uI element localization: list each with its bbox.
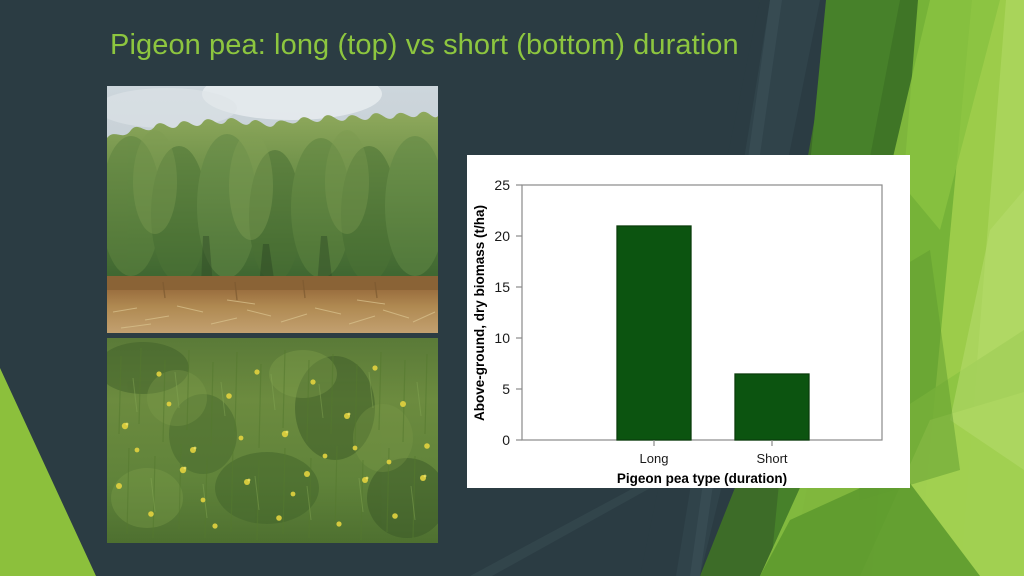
- y-tick-0: 0: [502, 432, 510, 448]
- long-duration-photo-image: [107, 86, 438, 333]
- short-duration-pigeon-pea-photo: [107, 338, 438, 543]
- y-tick-25: 25: [494, 177, 510, 193]
- y-axis-title: Above-ground, dry biomass (t/ha): [472, 205, 487, 421]
- y-tick-15: 15: [494, 279, 510, 295]
- x-axis-title: Pigeon pea type (duration): [617, 471, 787, 486]
- plot-area-frame: [522, 185, 882, 440]
- short-duration-photo-image: [107, 338, 438, 543]
- y-tick-20: 20: [494, 228, 510, 244]
- y-tick-5: 5: [502, 381, 510, 397]
- category-label-long: Long: [640, 451, 669, 466]
- page-title: Pigeon pea: long (top) vs short (bottom)…: [110, 26, 739, 64]
- biomass-bar-chart: 0 5 10 15 20 25 Above-ground, dry biomas…: [467, 155, 910, 488]
- presentation-slide: Pigeon pea: long (top) vs short (bottom)…: [0, 0, 1024, 576]
- category-label-short: Short: [756, 451, 787, 466]
- y-tick-10: 10: [494, 330, 510, 346]
- bar-long: [617, 226, 691, 440]
- chart-canvas: 0 5 10 15 20 25 Above-ground, dry biomas…: [467, 155, 910, 488]
- long-duration-pigeon-pea-photo: [107, 86, 438, 333]
- bar-short: [735, 374, 809, 440]
